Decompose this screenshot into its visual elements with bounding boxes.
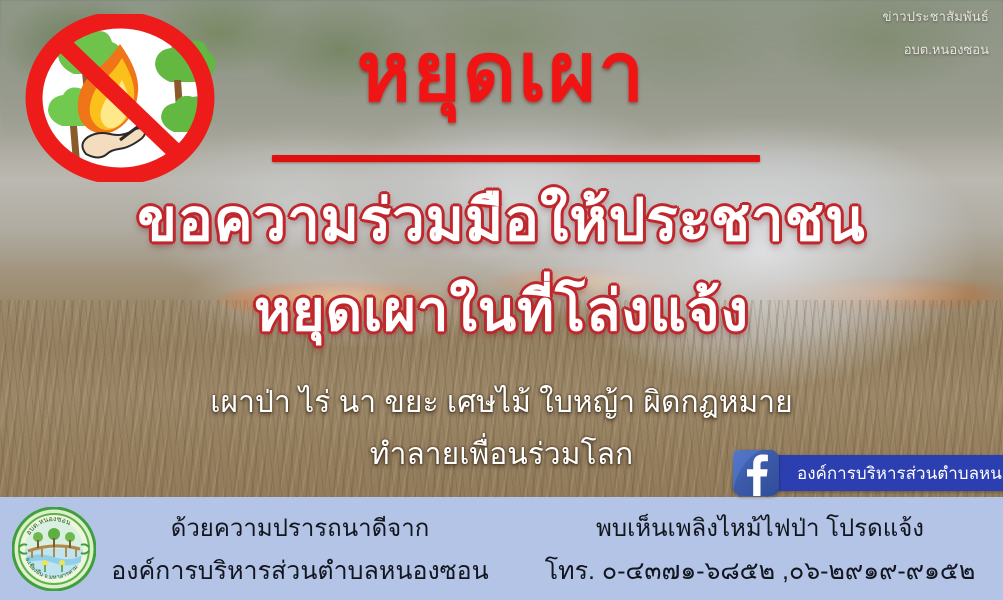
municipality-emblem-icon: อบต.หนองซอน อ.เชียงยืน จ.มหาสารคาม <box>12 507 96 591</box>
page-title: หยุดเผา <box>0 32 1003 114</box>
subheadline-line2: หยุดเผาในที่โล่งแจ้ง <box>0 283 1003 339</box>
footer-left-line2: องค์การบริหารส่วนตำบลหนองซอน <box>100 553 500 591</box>
facebook-icon[interactable] <box>733 450 779 496</box>
footer-bar: อบต.หนองซอน อ.เชียงยืน จ.มหาสารคาม ด้วยค… <box>0 497 1003 600</box>
footer-right-line1: พบเห็นเพลิงไหม้ไฟป่า โปรดแจ้ง <box>520 511 1000 547</box>
facebook-badge[interactable]: องค์การบริหารส่วนตำบลหนองซอน <box>733 450 1003 496</box>
footer-left-block: ด้วยความปรารถนาดีจาก องค์การบริหารส่วนตำ… <box>100 511 500 591</box>
fire-prevention-poster: ข่าวประชาสัมพันธ์ อบต.หนองซอน <box>0 0 1003 600</box>
facebook-page-name[interactable]: องค์การบริหารส่วนตำบลหนองซอน <box>773 455 1003 491</box>
corner-note-line1: ข่าวประชาสัมพันธ์ <box>883 8 989 27</box>
subheadline-line1: ขอความร่วมมือให้ประชาชน <box>0 192 1003 250</box>
footer-right-block: พบเห็นเพลิงไหม้ไฟป่า โปรดแจ้ง โทร. ๐-๔๓๗… <box>520 511 1000 591</box>
footer-contact-phone: โทร. ๐-๔๓๗๑-๖๘๕๒ ,๐๖-๒๙๑๙-๙๑๕๒ <box>520 553 1000 591</box>
title-divider <box>272 155 760 162</box>
note-line1: เผาป่า ไร่ นา ขยะ เศษไม้ ใบหญ้า ผิดกฎหมา… <box>0 388 1003 418</box>
footer-left-line1: ด้วยความปรารถนาดีจาก <box>100 511 500 547</box>
